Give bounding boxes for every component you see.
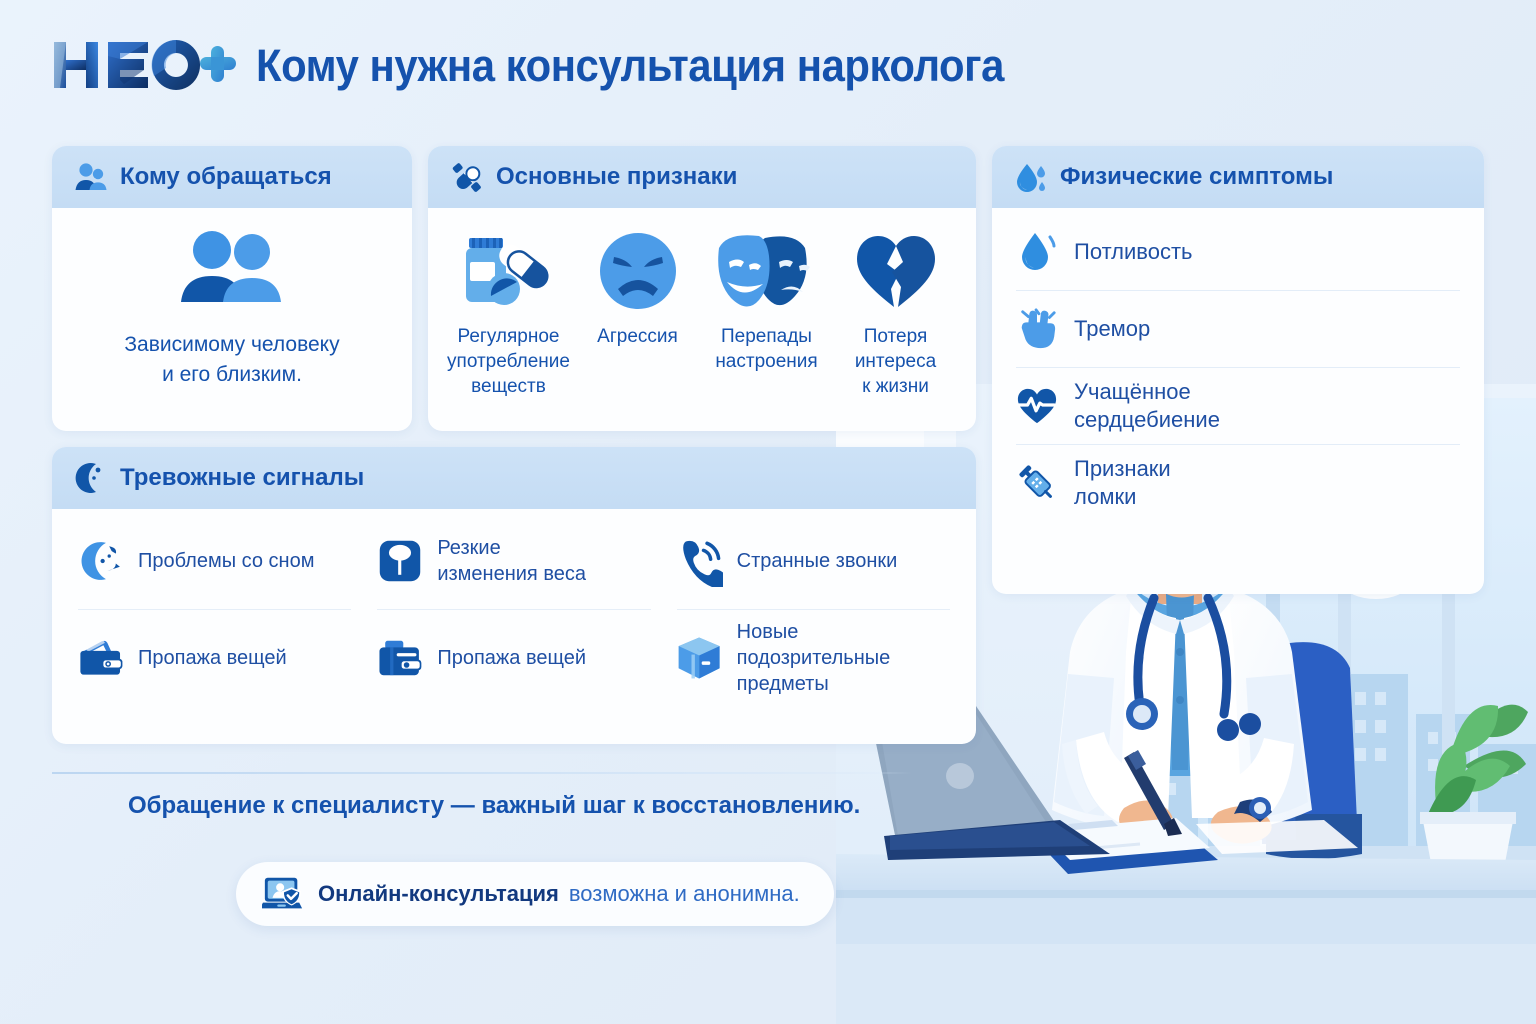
angry-face-icon bbox=[598, 228, 678, 314]
weight-scale-icon bbox=[377, 538, 423, 584]
list-item: Учащённое сердцебиение bbox=[1016, 368, 1460, 445]
card-who-text: Зависимому человеку и его близким. bbox=[124, 330, 339, 390]
infographic-canvas: Кому нужна консультация нарколога Кому о… bbox=[0, 0, 1536, 1024]
card-signs-body: Регулярное употребление веществ bbox=[428, 208, 976, 399]
card-physical-symptoms: Физические симптомы Потливость bbox=[992, 146, 1484, 594]
card-alarm-signals: Тревожные сигналы Проблемы bbox=[52, 447, 976, 744]
sign-label: Перепады настроения bbox=[715, 324, 817, 374]
wallet-closed-icon bbox=[377, 635, 423, 681]
list-item-label: Тремор bbox=[1074, 315, 1150, 343]
heart-pulse-icon bbox=[1016, 385, 1058, 427]
alarm-item: Резкие изменения веса bbox=[377, 513, 650, 610]
alarm-item: Проблемы со сном bbox=[78, 513, 351, 610]
alarm-grid: Проблемы со сном Резкие изменения веса bbox=[52, 509, 976, 706]
footer-note: Обращение к специалисту — важный шаг к в… bbox=[128, 792, 860, 820]
card-alarm-header: Тревожные сигналы bbox=[52, 447, 976, 509]
sign-label: Агрессия bbox=[597, 324, 678, 349]
signs-grid: Регулярное употребление веществ bbox=[428, 208, 976, 399]
sign-item: Потеря интереса к жизни bbox=[833, 228, 958, 399]
card-who-title: Кому обращаться bbox=[120, 163, 332, 191]
pill-bottle-icon bbox=[457, 228, 561, 314]
laptop-verified-icon bbox=[262, 873, 304, 915]
alarm-item-label: Пропажа вещей bbox=[138, 645, 287, 671]
card-who-to-contact: Кому обращаться Зависимому человеку и ег… bbox=[52, 146, 412, 431]
card-who-body: Зависимому человеку и его близким. bbox=[52, 208, 412, 390]
phone-ringing-icon bbox=[677, 538, 723, 584]
sign-label: Регулярное употребление веществ bbox=[447, 324, 570, 399]
online-consultation-light: возможна и анонимна. bbox=[569, 881, 800, 907]
list-item: Потливость bbox=[1016, 214, 1460, 291]
sign-item: Перепады настроения bbox=[704, 228, 829, 399]
theater-masks-icon bbox=[715, 228, 819, 314]
two-people-icon bbox=[176, 230, 288, 308]
footer-divider bbox=[52, 772, 912, 774]
water-drops-icon bbox=[1014, 160, 1048, 194]
alarm-item-label: Пропажа вещей bbox=[437, 645, 586, 671]
list-item: Тремор bbox=[1016, 291, 1460, 368]
crescent-moon-icon bbox=[74, 461, 108, 495]
card-main-signs: Основные признаки bbox=[428, 146, 976, 431]
neo-plus-logo bbox=[52, 36, 238, 94]
page-header: Кому нужна консультация нарколога bbox=[52, 36, 1060, 94]
list-item-label: Потливость bbox=[1074, 238, 1193, 266]
alarm-item-label: Проблемы со сном bbox=[138, 548, 314, 574]
alarm-item: Новые подозрительные предметы bbox=[677, 610, 950, 706]
package-box-icon bbox=[677, 635, 723, 681]
card-alarm-title: Тревожные сигналы bbox=[120, 464, 364, 492]
trembling-hand-icon bbox=[1016, 308, 1058, 350]
card-signs-title: Основные признаки bbox=[496, 163, 737, 191]
alarm-item: Пропажа вещей bbox=[78, 610, 351, 706]
list-item-label: Признаки ломки bbox=[1074, 455, 1171, 511]
card-alarm-body: Проблемы со сном Резкие изменения веса bbox=[52, 509, 976, 706]
list-item: Признаки ломки bbox=[1016, 445, 1460, 521]
wallet-open-icon bbox=[78, 635, 124, 681]
broken-heart-icon bbox=[853, 228, 939, 314]
alarm-item-label: Резкие изменения веса bbox=[437, 535, 586, 587]
online-consultation-bold: Онлайн-консультация bbox=[318, 881, 559, 907]
sign-label: Потеря интереса к жизни bbox=[855, 324, 936, 399]
two-people-icon bbox=[74, 160, 108, 194]
card-physical-body: Потливость Тремор bbox=[992, 208, 1484, 521]
page-title: Кому нужна консультация нарколога bbox=[256, 43, 1004, 88]
water-drop-icon bbox=[1016, 231, 1058, 273]
online-consultation-badge: Онлайн-консультация возможна и анонимна. bbox=[236, 862, 834, 926]
alarm-item: Странные звонки bbox=[677, 513, 950, 610]
card-physical-title: Физические симптомы bbox=[1060, 163, 1333, 191]
sign-item: Агрессия bbox=[575, 228, 700, 399]
list-item-label: Учащённое сердцебиение bbox=[1074, 378, 1220, 434]
card-physical-header: Физические симптомы bbox=[992, 146, 1484, 208]
sign-item: Регулярное употребление веществ bbox=[446, 228, 571, 399]
alarm-item: Пропажа вещей bbox=[377, 610, 650, 706]
alarm-item-label: Странные звонки bbox=[737, 548, 898, 574]
alarm-item-label: Новые подозрительные предметы bbox=[737, 619, 891, 697]
syringe-icon bbox=[1016, 462, 1058, 504]
pills-icon bbox=[450, 160, 484, 194]
card-signs-header: Основные признаки bbox=[428, 146, 976, 208]
card-who-header: Кому обращаться bbox=[52, 146, 412, 208]
moon-sleep-icon bbox=[78, 538, 124, 584]
